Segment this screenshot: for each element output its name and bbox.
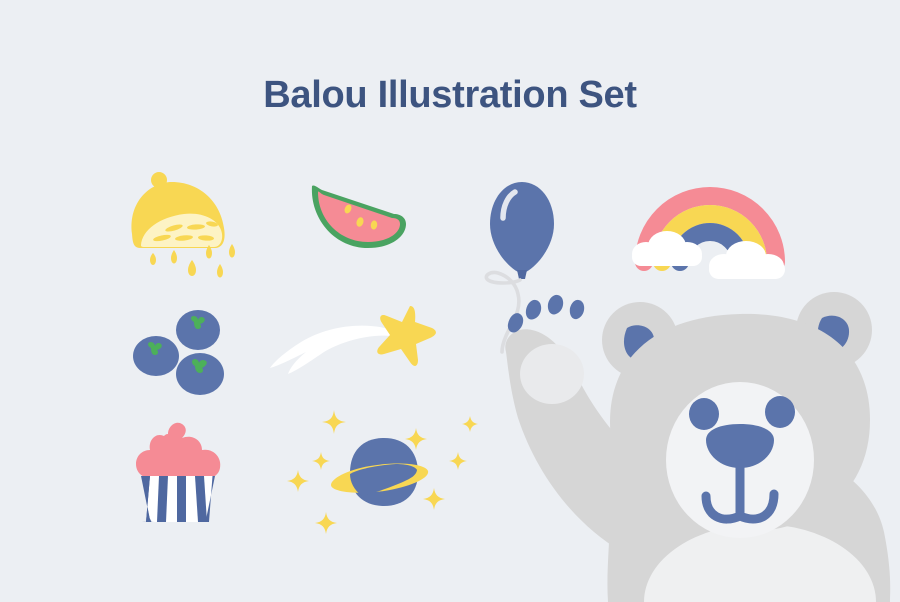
- illustration-rainbow[interactable]: [634, 156, 786, 282]
- claw-icon: [548, 295, 563, 315]
- sparkle-icon: [462, 416, 478, 432]
- sparkle-icon: [312, 452, 330, 470]
- shooting-star-trail: [270, 326, 392, 374]
- sparkle-icon: [423, 488, 445, 510]
- illustration-cupcake[interactable]: [128, 418, 234, 522]
- bear-paw-pad: [520, 344, 584, 404]
- balloon-knot: [517, 270, 527, 279]
- lemon-peel-group: [132, 172, 225, 248]
- illustration-planet[interactable]: [288, 408, 484, 534]
- page-title: Balou Illustration Set: [0, 74, 900, 117]
- claw-icon: [570, 300, 584, 319]
- blueberry-3: [176, 353, 224, 395]
- shooting-star-star: [377, 306, 436, 366]
- sparkle-icon: [322, 410, 346, 434]
- cupcake-wrapper: [141, 476, 216, 522]
- illustration-bear[interactable]: [492, 292, 900, 602]
- blueberry-2: [133, 336, 179, 376]
- bear-eye-right: [765, 396, 795, 428]
- blueberry-1: [176, 310, 220, 350]
- claw-icon: [508, 313, 523, 332]
- sparkle-icon: [287, 470, 309, 492]
- illustration-set-canvas: Balou Illustration Set: [0, 0, 900, 600]
- illustration-lemon[interactable]: [122, 168, 238, 298]
- illustration-watermelon[interactable]: [288, 178, 412, 258]
- illustration-shooting-star[interactable]: [268, 300, 440, 388]
- cupcake-frosting: [136, 423, 220, 478]
- bear-claws: [508, 295, 584, 333]
- sparkle-icon: [449, 452, 467, 470]
- sparkle-icon: [315, 512, 337, 534]
- watermelon-flesh: [318, 191, 400, 242]
- balloon-body: [490, 182, 554, 272]
- illustration-blueberries[interactable]: [128, 308, 238, 400]
- bear-eye-left: [689, 398, 719, 430]
- lemon-juice-drops: [150, 244, 235, 278]
- claw-icon: [526, 300, 541, 320]
